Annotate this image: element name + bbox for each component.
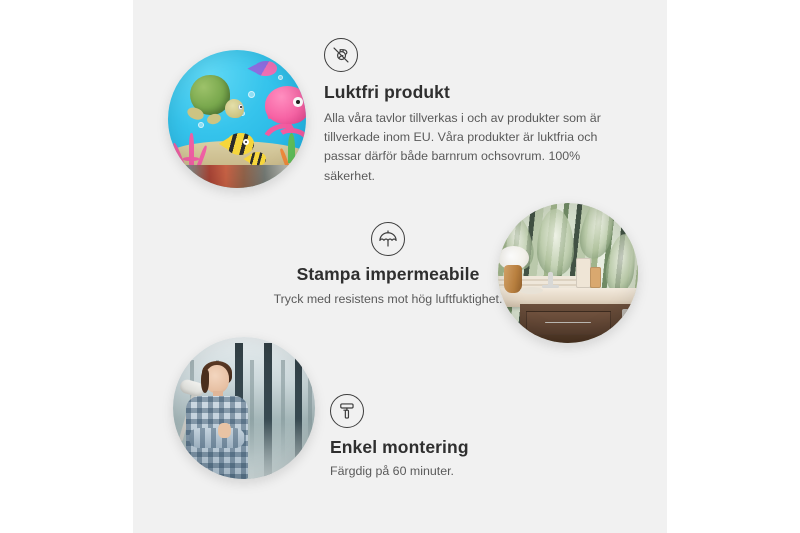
woman-paint-roller-forest-photo xyxy=(173,337,315,479)
feature-waterproof: Stampa impermeabile Tryck med resistens … xyxy=(223,222,553,309)
feature-description: Alla våra tavlor tillverkas i och av pro… xyxy=(324,109,620,186)
feature-description: Färgdig på 60 minuter. xyxy=(330,462,620,481)
turtle-icon xyxy=(190,73,245,120)
umbrella-icon xyxy=(371,222,405,256)
cabinet-drawer xyxy=(526,311,611,335)
feature-title: Luktfri produkt xyxy=(324,82,620,103)
cabinet-handle xyxy=(622,309,628,335)
feature-description: Tryck med resistens mot hög luftfuktighe… xyxy=(223,290,553,309)
vanity-cabinet xyxy=(520,304,638,343)
paint-roller-icon xyxy=(330,394,364,428)
pink-coral-icon xyxy=(174,133,210,169)
product-feature-infographic: Luktfri produkt Alla våra tavlor tillver… xyxy=(0,0,800,533)
feature-easy-mounting: Enkel montering Färgdig på 60 minuter. xyxy=(330,394,620,481)
toiletry-bottle xyxy=(576,258,591,288)
feature-title: Enkel montering xyxy=(330,437,620,458)
toiletry-bottle xyxy=(590,267,600,289)
underwater-cartoon-mural-photo xyxy=(168,50,306,188)
yellow-fish-icon xyxy=(226,133,254,155)
feature-scent-free: Luktfri produkt Alla våra tavlor tillver… xyxy=(324,38,620,186)
purple-fish-icon xyxy=(254,61,277,76)
drawer-handle xyxy=(545,322,591,324)
room-strip xyxy=(168,165,306,188)
no-scent-icon xyxy=(324,38,358,72)
hand xyxy=(218,423,231,438)
hair xyxy=(201,370,209,393)
woman-figure xyxy=(182,363,262,479)
seaweed-icon xyxy=(288,133,295,163)
face xyxy=(205,365,229,393)
infographic-canvas: Luktfri produkt Alla våra tavlor tillver… xyxy=(133,0,667,533)
feature-title: Stampa impermeabile xyxy=(223,264,553,285)
